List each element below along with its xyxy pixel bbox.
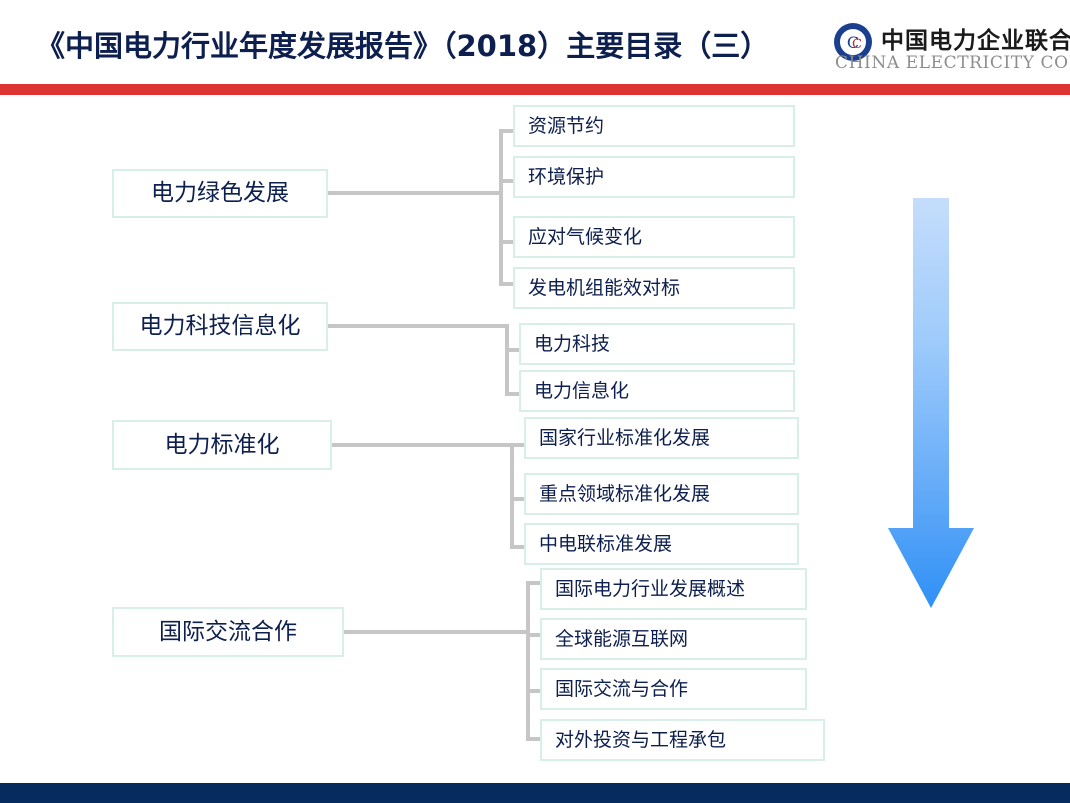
child-node-intl-3[interactable]: 对外投资与工程承包 bbox=[540, 719, 825, 761]
connector-branch-tech bbox=[328, 324, 509, 328]
svg-text:C: C bbox=[852, 37, 862, 52]
child-node-green-0[interactable]: 资源节约 bbox=[513, 105, 795, 147]
child-node-green-1[interactable]: 环境保护 bbox=[513, 156, 795, 198]
child-node-green-2[interactable]: 应对气候变化 bbox=[513, 216, 795, 258]
connector-spine-standardization bbox=[510, 443, 514, 549]
child-node-std-2[interactable]: 中电联标准发展 bbox=[524, 523, 799, 565]
organization-logo: C C 中国电力企业联合会 CHINA ELECTRICITY COUNCIL bbox=[833, 20, 1065, 78]
slide-header: 《中国电力行业年度发展报告》（2018）主要目录（三） C C 中国电力企业联合… bbox=[0, 0, 1070, 84]
connector-branch-green-development bbox=[328, 191, 503, 195]
connector-branch-international bbox=[344, 630, 530, 634]
header-red-divider bbox=[0, 84, 1070, 95]
child-node-std-0[interactable]: 国家行业标准化发展 bbox=[524, 417, 799, 459]
connector-branch-standardization bbox=[332, 443, 514, 447]
parent-node-green-development[interactable]: 电力绿色发展 bbox=[112, 169, 328, 218]
child-node-tech-0[interactable]: 电力科技 bbox=[519, 323, 795, 365]
parent-node-tech-informatization[interactable]: 电力科技信息化 bbox=[112, 302, 328, 351]
connector-spine-green-development bbox=[499, 129, 503, 286]
toc-diagram: 电力绿色发展 资源节约 环境保护 应对气候变化 发电机组能效对标 电力科技信息化… bbox=[0, 95, 1070, 783]
child-node-std-1[interactable]: 重点领域标准化发展 bbox=[524, 473, 799, 515]
page-title: 《中国电力行业年度发展报告》（2018）主要目录（三） bbox=[36, 27, 769, 65]
parent-node-standardization[interactable]: 电力标准化 bbox=[112, 420, 332, 470]
child-node-intl-1[interactable]: 全球能源互联网 bbox=[540, 618, 807, 660]
parent-node-international[interactable]: 国际交流合作 bbox=[112, 607, 344, 657]
child-node-green-3[interactable]: 发电机组能效对标 bbox=[513, 267, 795, 309]
child-node-intl-2[interactable]: 国际交流与合作 bbox=[540, 668, 807, 710]
footer-bar bbox=[0, 783, 1070, 803]
logo-english-name: CHINA ELECTRICITY COUNCIL bbox=[835, 53, 1070, 73]
connector-spine-international bbox=[526, 581, 530, 741]
logo-chinese-name: 中国电力企业联合会 bbox=[881, 21, 1070, 55]
connector-spine-tech bbox=[505, 324, 509, 396]
child-node-tech-1[interactable]: 电力信息化 bbox=[519, 370, 795, 412]
child-node-intl-0[interactable]: 国际电力行业发展概述 bbox=[540, 568, 807, 610]
down-arrow-icon bbox=[888, 198, 974, 608]
slide-canvas: 《中国电力行业年度发展报告》（2018）主要目录（三） C C 中国电力企业联合… bbox=[0, 0, 1070, 803]
